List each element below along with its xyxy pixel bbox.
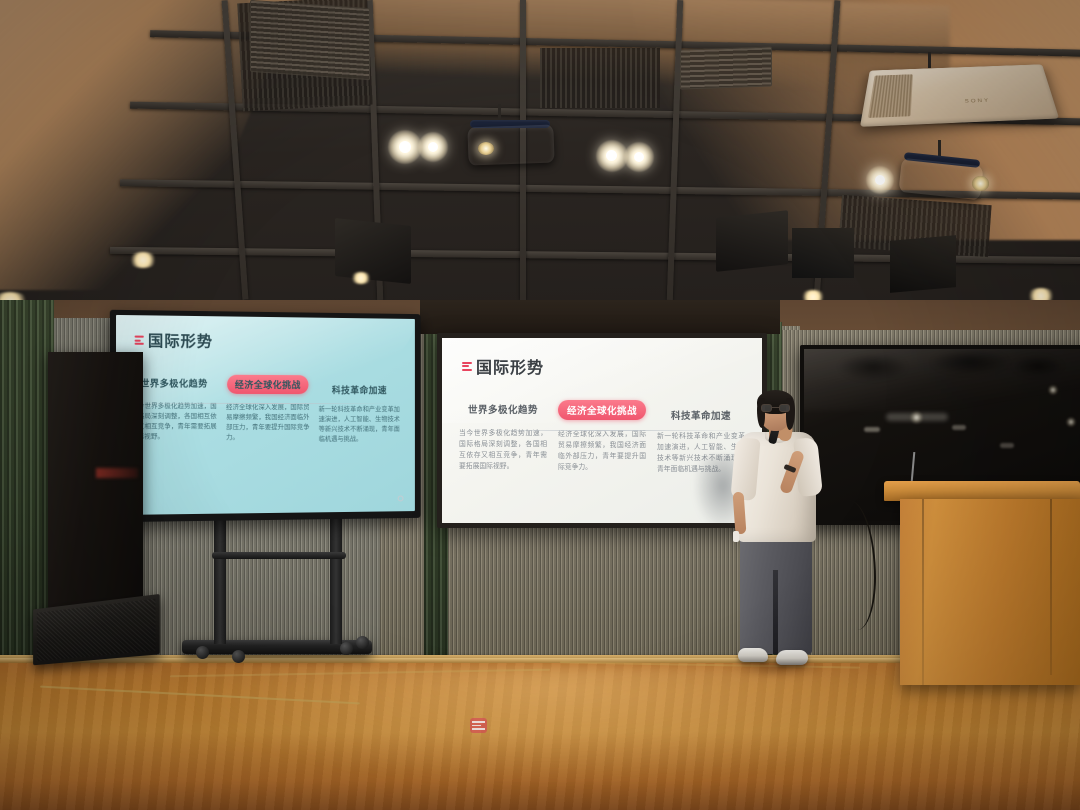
auditorium-scene: SONY 国际形势 [0,0,1080,810]
ceiling: SONY [0,0,1080,330]
tv-cart-caster [340,642,353,655]
tv-reflection-streak [952,425,966,430]
tv-reflection-dark [930,349,1010,375]
projector-vent [868,74,913,118]
moving-head-lens [478,142,494,155]
tv-reflection-light [1048,385,1058,395]
slide-column-1: 世界多极化趋势 当今世界多极化趋势加速，国际格局深刻调整，各国相互依存又相互竞争… [456,400,550,475]
tv-cart-leg [330,498,342,644]
stage-spotlight-core [875,175,885,185]
hanging-speaker [890,235,956,293]
air-vent [680,46,772,89]
stage-spotlight-core [428,142,438,152]
speaker-indicator-glow [96,468,138,478]
tall-speaker-stack [48,352,143,622]
slide-column-3: 科技革命加速 新一轮科技革命和产业变革加速演进，人工智能、生物技术等新兴技术不断… [316,375,402,444]
ceiling-downlight [128,252,158,268]
hanging-speaker [716,210,788,272]
tv-reflection-streak [1000,443,1014,448]
tv-reflection-dark [838,353,908,381]
moving-head-lens [972,176,989,191]
stage-spotlight-core [634,152,644,162]
slide-column-heading: 世界多极化趋势 [137,374,211,392]
slide-column-body: 当今世界多极化趋势加速，国际格局深刻调整，各国相互依存又相互竞争，青年需要拓展国… [459,428,547,472]
slide-column-body: 当今世界多极化趋势加速，国际格局深刻调整，各国相互依存又相互竞争，青年需要拓展国… [131,401,217,442]
podium-top-surface [884,481,1080,501]
slide-column-heading: 世界多极化趋势 [465,400,541,418]
podium-edge-seam [1050,499,1052,675]
tv-cart-crossbar [212,552,346,559]
menu-bars-icon [462,362,472,371]
rolling-tv-display[interactable]: 国际形势 世界多极化趋势 当今世界多极化趋势加速，国际格局深刻调整，各国相互依存… [110,310,421,523]
projector-brand-label: SONY [965,99,991,105]
tv-cart-caster [196,646,209,659]
tv-screen-surface: 国际形势 世界多极化趋势 当今世界多极化趋势加速，国际格局深刻调整，各国相互依存… [116,315,415,515]
projector-mount [928,52,931,68]
podium-edge-seam [922,499,924,685]
slide-title: 国际形势 [148,330,213,352]
projection-screen-frame: 国际形势 世界多极化趋势 当今世界多极化趋势加速，国际格局深刻调整，各国相互依存… [437,333,767,528]
presenter-shadow-on-screen [694,456,752,523]
slide-column-2: 经济全球化挑战 经济全球化深入发展，国际贸易摩擦频繁，我国经济面临外部压力，青年… [555,400,649,475]
slide-column-2: 经济全球化挑战 经济全球化深入发展，国际贸易摩擦频繁，我国经济面临外部压力，青年… [223,375,312,444]
slide-divider [462,430,742,431]
slide-tv: 国际形势 世界多极化趋势 当今世界多极化趋势加速，国际格局深刻调整，各国相互依存… [116,315,415,515]
air-vent [250,0,370,80]
stage-spotlight-core [399,141,411,153]
hanging-speaker [792,228,854,278]
slide-title-row: 国际形势 [135,329,213,351]
tv-cart-caster [232,650,245,663]
tv-reflection-bar [886,413,948,421]
speaker-grill [37,599,156,662]
tv-reflection-dark [1012,355,1064,377]
hanging-speaker [335,218,411,284]
slide-column-body: 经济全球化深入发展，国际贸易摩擦频繁，我国经济面临外部压力，青年要提升国际竞争力… [226,402,309,442]
ceiling-projector: SONY [860,64,1059,127]
tv-reflection-streak [864,427,880,432]
slide-column-body: 经济全球化深入发展，国际贸易摩擦频繁，我国经济面临外部压力，青年要提升国际竞争力… [558,429,646,473]
slide-column-heading-highlighted: 经济全球化挑战 [558,400,646,420]
slide-title: 国际形势 [476,354,544,378]
wooden-podium[interactable] [900,499,1080,685]
wall-recess [420,300,780,334]
slide-column-heading: 科技革命加速 [329,381,390,398]
menu-bars-icon [135,336,144,345]
tv-cart-caster [356,636,369,649]
slide-column-body: 新一轮科技革命和产业变革加速演进，人工智能、生物技术等新兴技术不断涌现，青年面临… [319,404,400,444]
ceiling-downlight [350,272,372,284]
projection-screen[interactable]: 国际形势 世界多极化趋势 当今世界多极化趋势加速，国际格局深刻调整，各国相互依存… [442,338,762,523]
slide-title-row: 国际形势 [462,354,544,378]
slide-column-heading: 科技革命加速 [668,406,734,424]
floor-watermark-logo [470,718,487,733]
floor-light-reflection [180,665,940,785]
stage-spotlight-core [606,150,617,161]
ceiling-grille [540,48,660,108]
slide-columns: 世界多极化趋势 当今世界多极化趋势加速，国际格局深刻调整，各国相互依存又相互竞争… [128,374,402,444]
slide-column-heading-highlighted: 经济全球化挑战 [227,375,309,394]
slide-page-dot [398,496,404,502]
tv-reflection-light [1066,417,1076,427]
